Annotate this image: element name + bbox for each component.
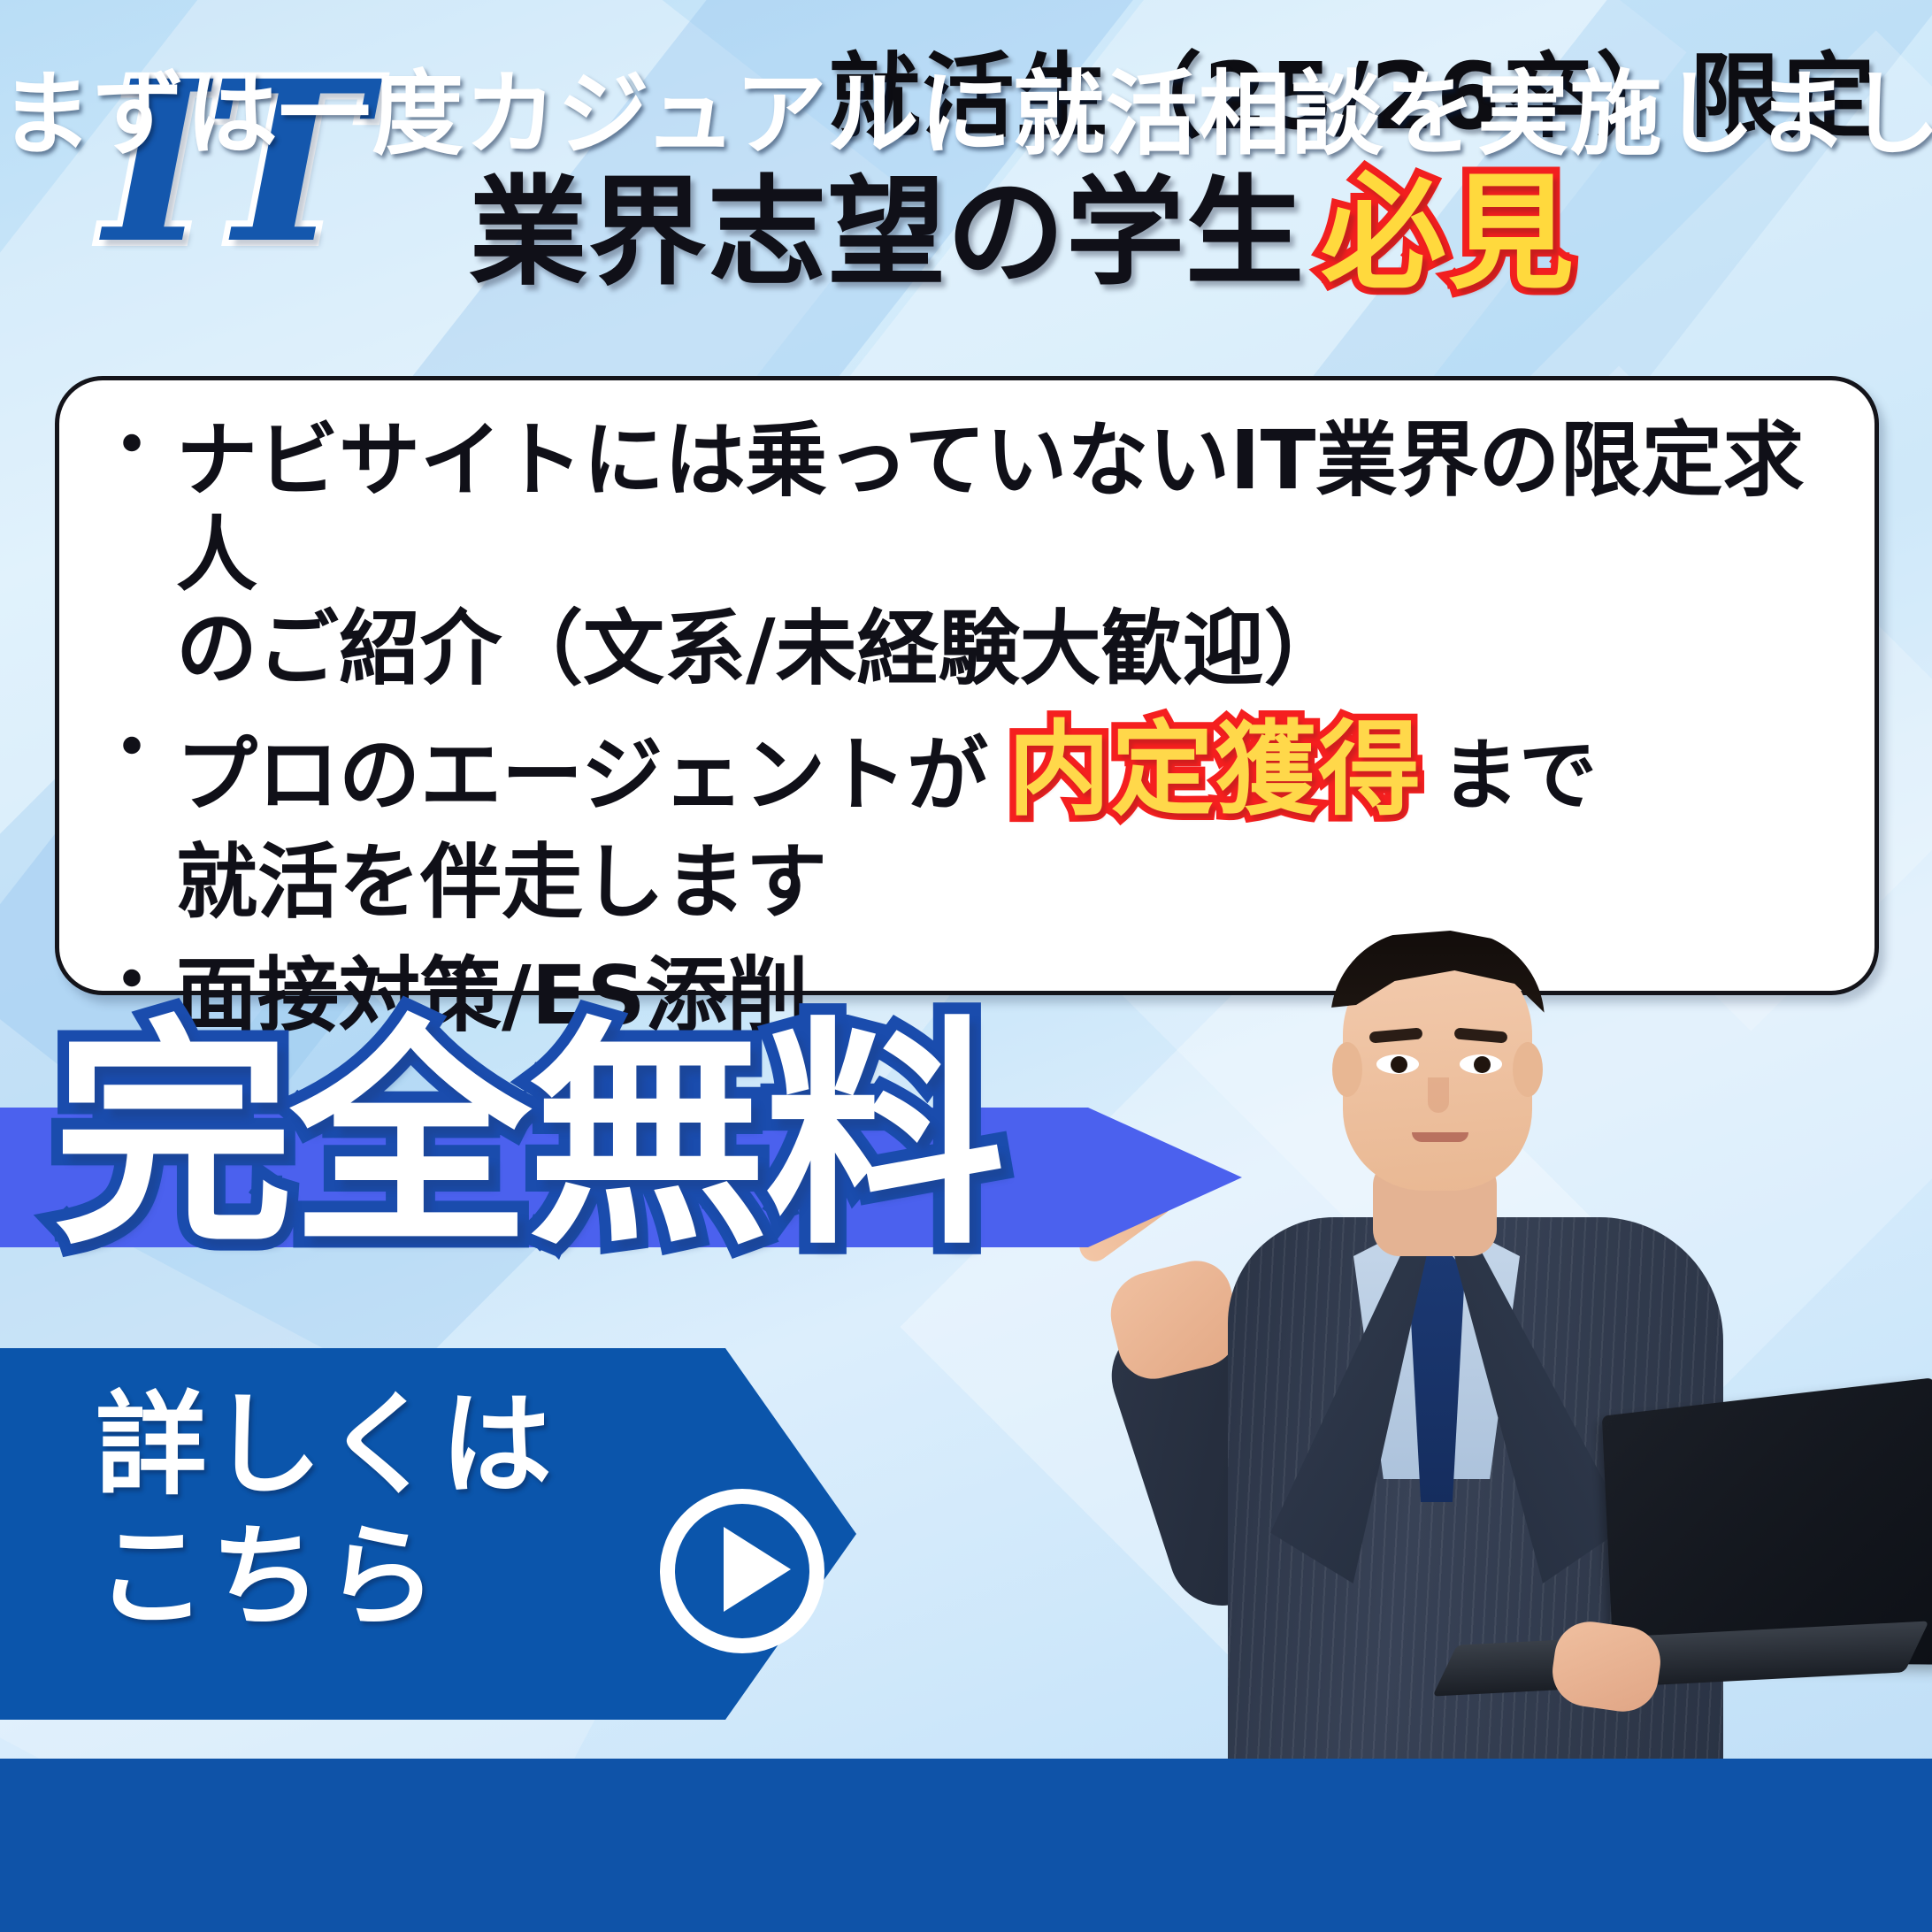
feature-bullet-1-line1: ナビサイトには乗っていないIT業界の限定求人 xyxy=(176,413,1804,602)
play-triangle-icon[interactable] xyxy=(724,1527,791,1612)
feature-bullet-1-line2: のご紹介（文系/未経験大歓迎） xyxy=(176,602,1345,696)
laptop-screen xyxy=(1602,1377,1932,1665)
footer-bar xyxy=(0,1759,1932,1932)
feature-bullet-2-line2: 就活を伴走します xyxy=(176,835,827,930)
ear-right xyxy=(1513,1042,1543,1097)
advertisement-canvas: 就活生（25/26卒）限定 IT 業界志望の学生 必見 ・ ナビサイトには乗って… xyxy=(0,0,1932,1932)
cta-label-line1: 詳しくは xyxy=(96,1380,556,1510)
feature-bullet-1-text: ナビサイトには乗っていないIT業界の限定求人 のご紹介（文系/未経験大歓迎） xyxy=(176,414,1848,697)
free-banner-text: 完全無料 xyxy=(53,1017,1001,1258)
bullet-marker-icon: ・ xyxy=(96,414,167,478)
nose xyxy=(1428,1077,1449,1113)
bullet-marker-icon: ・ xyxy=(96,717,167,780)
ear-left xyxy=(1332,1042,1362,1097)
footer-message: まずは一度カジュアルに就活相談を実施しましょう！ xyxy=(0,39,1932,172)
cta-label[interactable]: 詳しくは こちら xyxy=(96,1380,556,1643)
offer-highlight-badge: 内定獲得 xyxy=(1008,711,1422,831)
businessman-photo xyxy=(1062,867,1932,1760)
pupil-right xyxy=(1474,1056,1491,1073)
offer-highlight-suffix: まで xyxy=(1441,731,1597,821)
mouth xyxy=(1412,1132,1468,1142)
cta-label-line2: こちら xyxy=(96,1512,441,1642)
feature-bullet-2-line1: プロのエージェントが xyxy=(176,729,988,824)
feature-bullet-2-row: プロのエージェントが 内定獲得 まで xyxy=(176,717,1597,836)
pupil-left xyxy=(1391,1056,1407,1073)
feature-bullet-1: ・ ナビサイトには乗っていないIT業界の限定求人 のご紹介（文系/未経験大歓迎） xyxy=(96,414,1848,697)
